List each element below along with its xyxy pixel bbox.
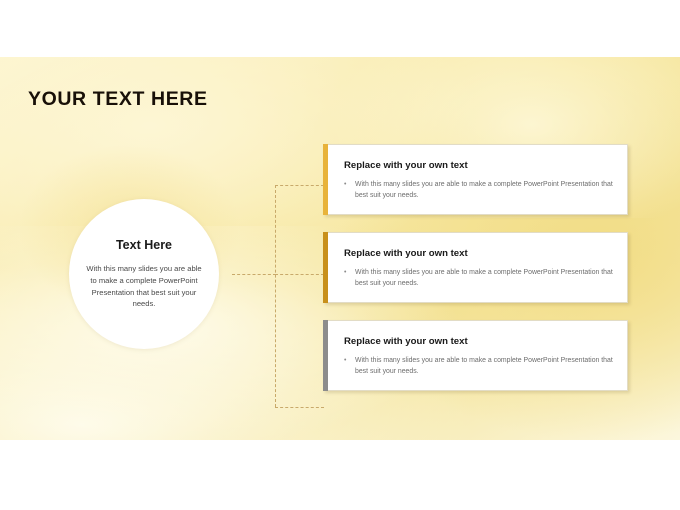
card-bullet-text: With this many slides you are able to ma… [355, 179, 613, 201]
connector-circle-to-spine [232, 274, 276, 275]
card-title: Replace with your own text [344, 336, 613, 347]
circle-content: Text Here With this many slides you are … [69, 199, 219, 349]
bullet-marker-icon: • [344, 267, 355, 289]
card-title: Replace with your own text [344, 248, 613, 259]
bullet-marker-icon: • [344, 355, 355, 377]
card-bullet-text: With this many slides you are able to ma… [355, 355, 613, 377]
circle-node[interactable]: Text Here With this many slides you are … [56, 186, 232, 362]
content-card[interactable]: Replace with your own text • With this m… [323, 320, 628, 391]
connector-spine-to-card-3 [275, 407, 324, 408]
page-title: YOUR TEXT HERE [28, 88, 208, 111]
connector-vertical-spine [275, 185, 276, 407]
circle-body: With this many slides you are able to ma… [83, 263, 205, 310]
content-card[interactable]: Replace with your own text • With this m… [323, 232, 628, 303]
connector-spine-to-card-2 [275, 274, 324, 275]
slide-canvas: YOUR TEXT HERE Text Here With this many … [0, 57, 680, 440]
circle-title: Text Here [116, 238, 172, 252]
card-title: Replace with your own text [344, 160, 613, 171]
card-bullet-text: With this many slides you are able to ma… [355, 267, 613, 289]
card-bullet-item: • With this many slides you are able to … [344, 355, 613, 377]
bullet-marker-icon: • [344, 179, 355, 201]
card-body: Replace with your own text • With this m… [328, 232, 628, 303]
card-bullet-item: • With this many slides you are able to … [344, 267, 613, 289]
content-card[interactable]: Replace with your own text • With this m… [323, 144, 628, 215]
card-body: Replace with your own text • With this m… [328, 144, 628, 215]
card-bullet-item: • With this many slides you are able to … [344, 179, 613, 201]
connector-spine-to-card-1 [275, 185, 324, 186]
card-body: Replace with your own text • With this m… [328, 320, 628, 391]
